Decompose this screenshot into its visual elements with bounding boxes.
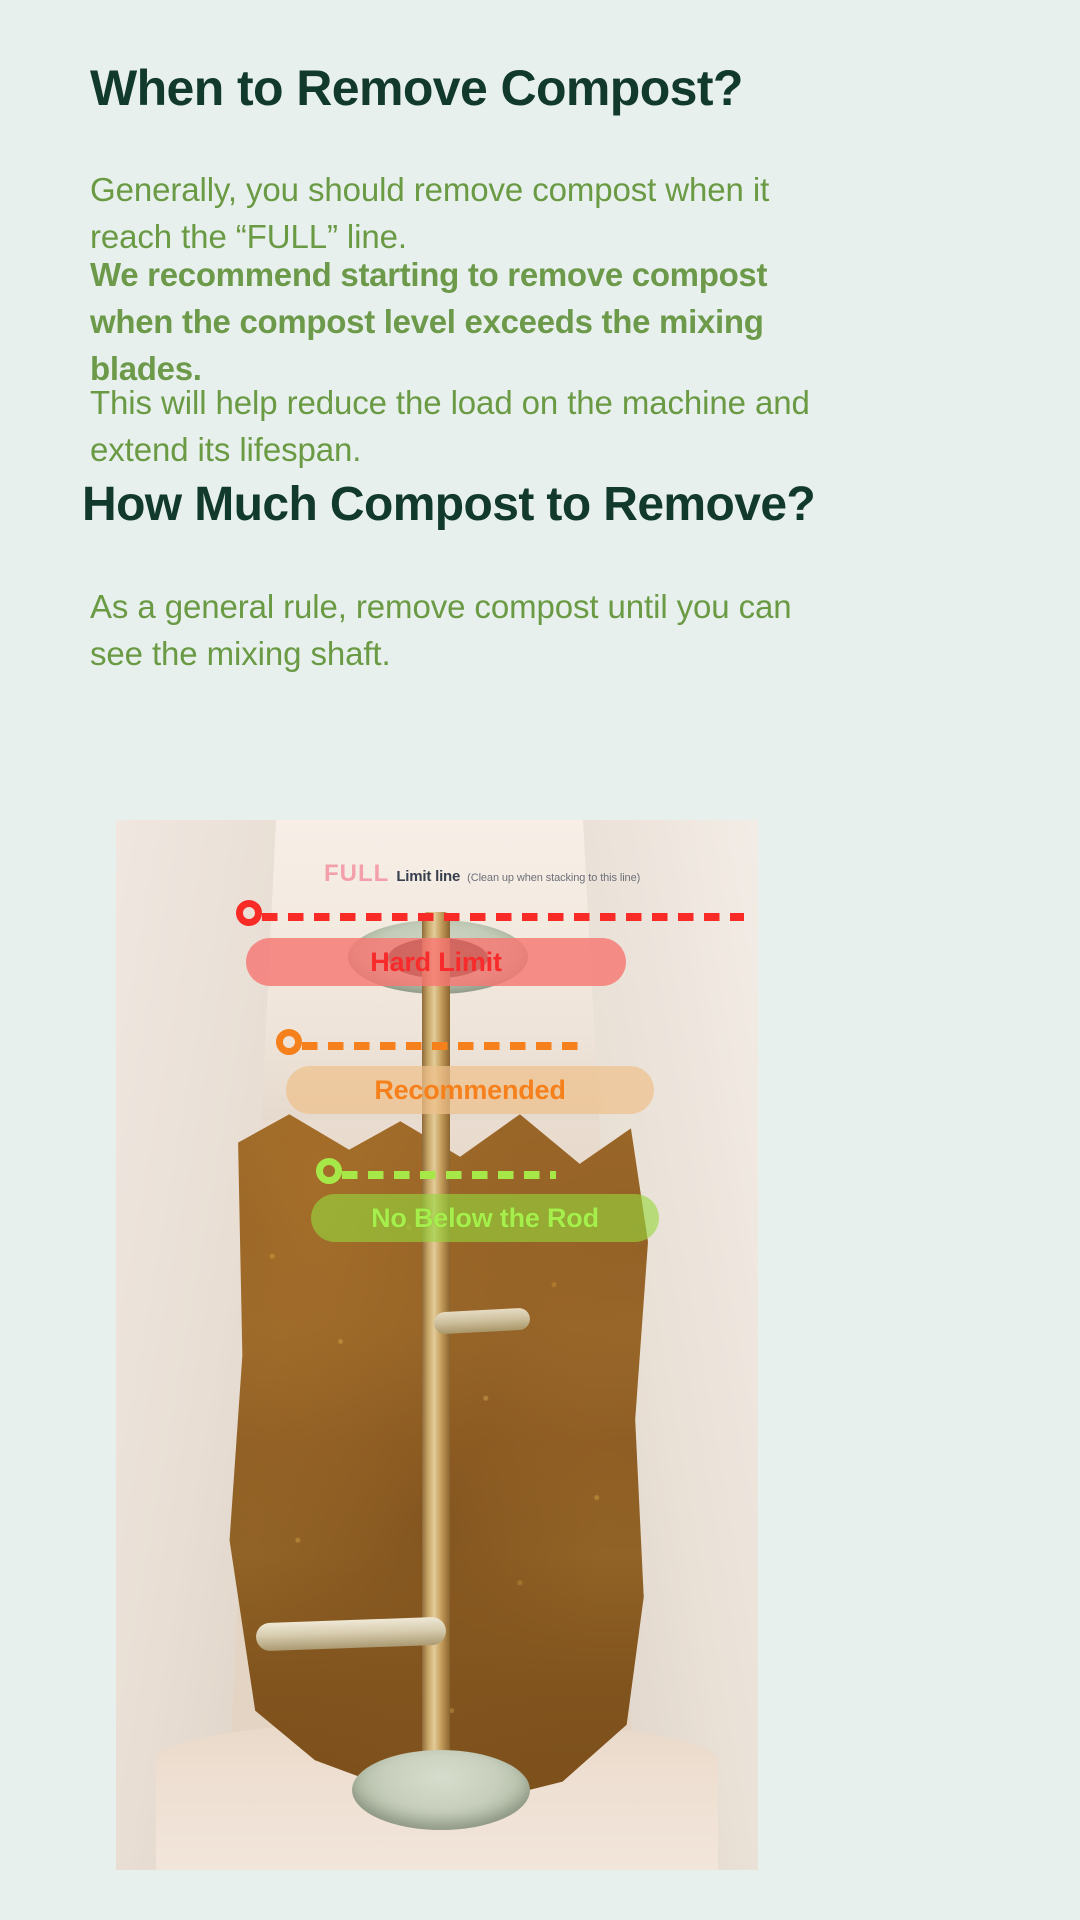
marker-dashed-line bbox=[342, 1171, 556, 1179]
status-badge-hard-limit: Hard Limit bbox=[246, 938, 626, 986]
status-badge-hard-limit-label: Hard Limit bbox=[370, 947, 502, 978]
marker-dashed-line bbox=[302, 1042, 582, 1050]
status-badge-recommended-label: Recommended bbox=[374, 1075, 565, 1106]
status-badge-recommended: Recommended bbox=[286, 1066, 654, 1114]
paragraph-generally-remove: Generally, you should remove compost whe… bbox=[90, 166, 830, 260]
page-title-when-to-remove: When to Remove Compost? bbox=[90, 60, 743, 116]
marker-dashed-line bbox=[262, 913, 744, 921]
limit-line-label: Limit line bbox=[396, 868, 460, 885]
mixer-lower-hub bbox=[352, 1750, 530, 1830]
page-title-how-much-to-remove: How Much Compost to Remove? bbox=[82, 478, 815, 532]
status-badge-no-below-the-rod-label: No Below the Rod bbox=[371, 1203, 599, 1234]
limit-line-note: (Clean up when stacking to this line) bbox=[467, 872, 640, 884]
paragraph-recommendation-bold: We recommend starting to remove compost … bbox=[90, 251, 830, 392]
marker-dot-icon bbox=[236, 900, 262, 926]
marker-dot-icon bbox=[276, 1029, 302, 1055]
marker-dot-icon bbox=[316, 1158, 342, 1184]
page-root: When to Remove Compost? Generally, you s… bbox=[0, 0, 1080, 1920]
status-badge-no-below-the-rod: No Below the Rod bbox=[311, 1194, 659, 1242]
full-label: FULL bbox=[324, 860, 389, 888]
compost-bin-photo: FULL Limit line (Clean up when stacking … bbox=[116, 820, 758, 1870]
full-limit-line-caption: FULL Limit line (Clean up when stacking … bbox=[324, 860, 640, 888]
paragraph-reduce-load: This will help reduce the load on the ma… bbox=[90, 379, 830, 473]
paragraph-general-rule: As a general rule, remove compost until … bbox=[90, 583, 830, 677]
